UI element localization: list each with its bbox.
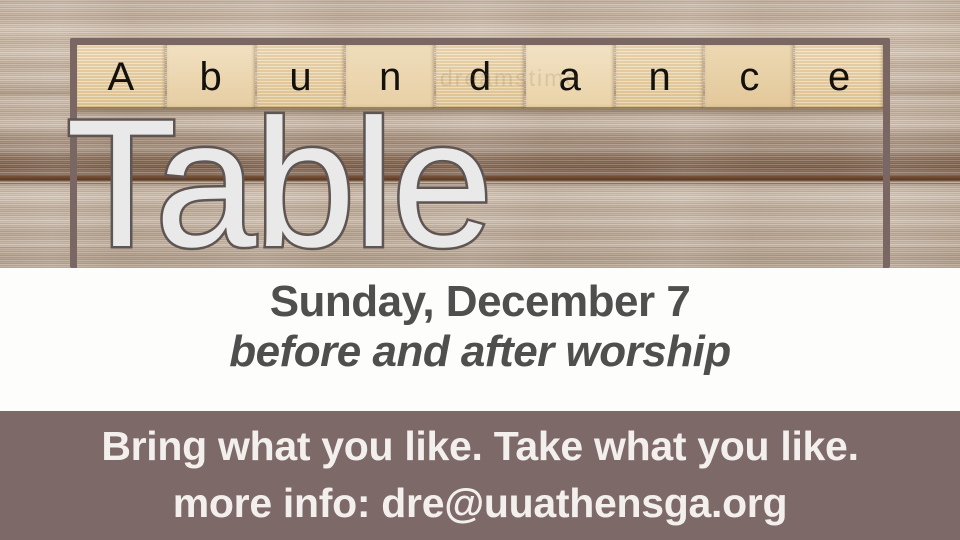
tile-letter: a [559,57,581,97]
table-wordmark: Table [66,93,960,273]
tile-letter: e [828,57,850,97]
contact-line: more info: dre@uuathensga.org [173,481,787,526]
tile-letter: n [648,57,670,97]
event-time-line: before and after worship [229,328,730,376]
info-band: Bring what you like. Take what you like.… [0,411,960,540]
instruction-line: Bring what you like. Take what you like. [101,424,858,469]
tile-letter: c [739,57,759,97]
abundance-table-poster: A b u n d a n c e dreamstime Table Sunda… [0,0,960,540]
date-band: Sunday, December 7 before and after wors… [0,268,960,411]
event-date-line: Sunday, December 7 [270,278,691,326]
